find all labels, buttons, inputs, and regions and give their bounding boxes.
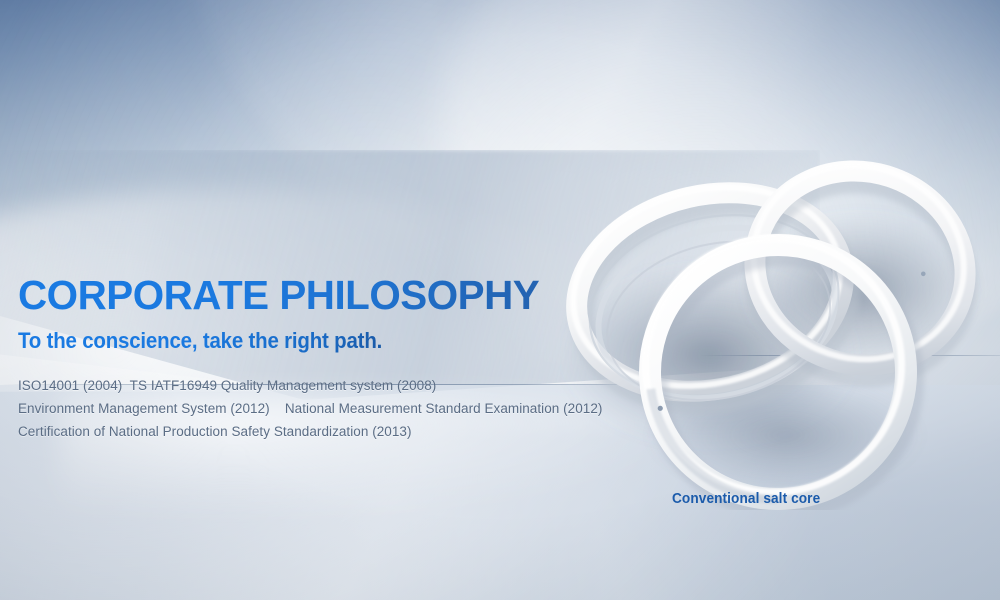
product-caption: Conventional salt core <box>672 491 820 507</box>
certification-line: Certification of National Production Saf… <box>18 420 658 443</box>
headline-block: CORPORATE PHILOSOPHY To the conscience, … <box>18 274 638 354</box>
page-title: CORPORATE PHILOSOPHY <box>18 274 629 317</box>
certification-list: ISO14001 (2004) TS IATF16949 Quality Man… <box>18 374 658 443</box>
page-subtitle: To the conscience, take the right path. <box>18 328 595 354</box>
certification-line: Environment Management System (2012) Nat… <box>18 397 658 420</box>
certification-line: ISO14001 (2004) TS IATF16949 Quality Man… <box>18 374 658 397</box>
corporate-philosophy-banner: CORPORATE PHILOSOPHY To the conscience, … <box>0 0 1000 600</box>
